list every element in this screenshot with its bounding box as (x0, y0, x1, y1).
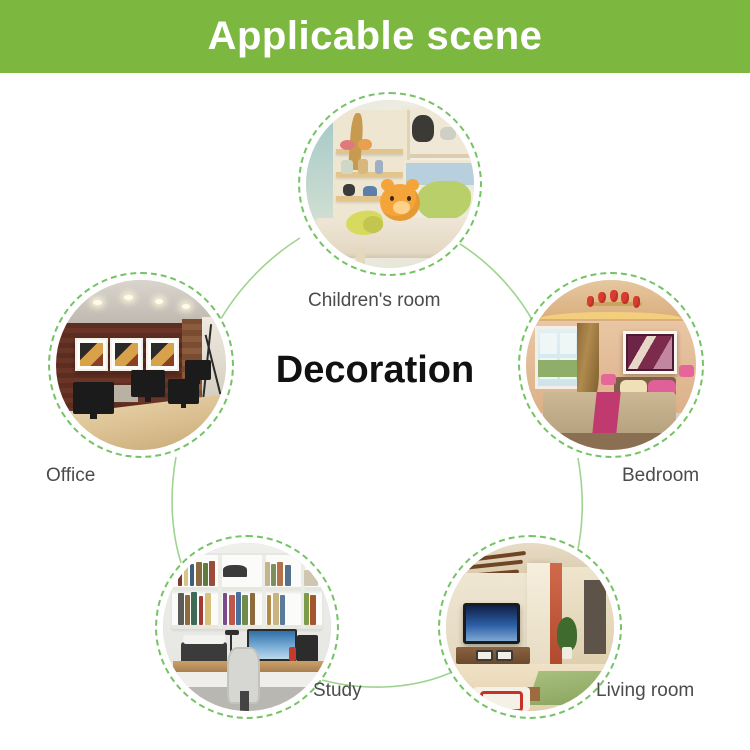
children-room-photo[interactable] (306, 100, 474, 268)
study-illustration (163, 543, 331, 711)
scene-node-children-room[interactable]: Children's room (298, 92, 482, 276)
page-title: Applicable scene (208, 16, 543, 56)
office-photo[interactable] (56, 280, 226, 450)
office-illustration (56, 280, 226, 450)
header-banner: Applicable scene (0, 0, 750, 73)
scene-node-study[interactable]: Study (155, 535, 339, 719)
scene-node-living-room[interactable]: Living room (438, 535, 622, 719)
study-photo[interactable] (163, 543, 331, 711)
bedroom-illustration (526, 280, 696, 450)
living-room-label: Living room (596, 681, 694, 700)
office-label: Office (46, 466, 95, 485)
study-label: Study (313, 681, 362, 700)
applicable-scene-diagram: Decoration (0, 73, 750, 750)
living-room-illustration (446, 543, 614, 711)
bedroom-label: Bedroom (622, 466, 699, 485)
scene-node-office[interactable]: Office (48, 272, 234, 458)
scene-node-bedroom[interactable]: Bedroom (518, 272, 704, 458)
living-room-photo[interactable] (446, 543, 614, 711)
children-room-illustration (306, 100, 474, 268)
bedroom-photo[interactable] (526, 280, 696, 450)
children-room-label: Children's room (308, 291, 440, 310)
